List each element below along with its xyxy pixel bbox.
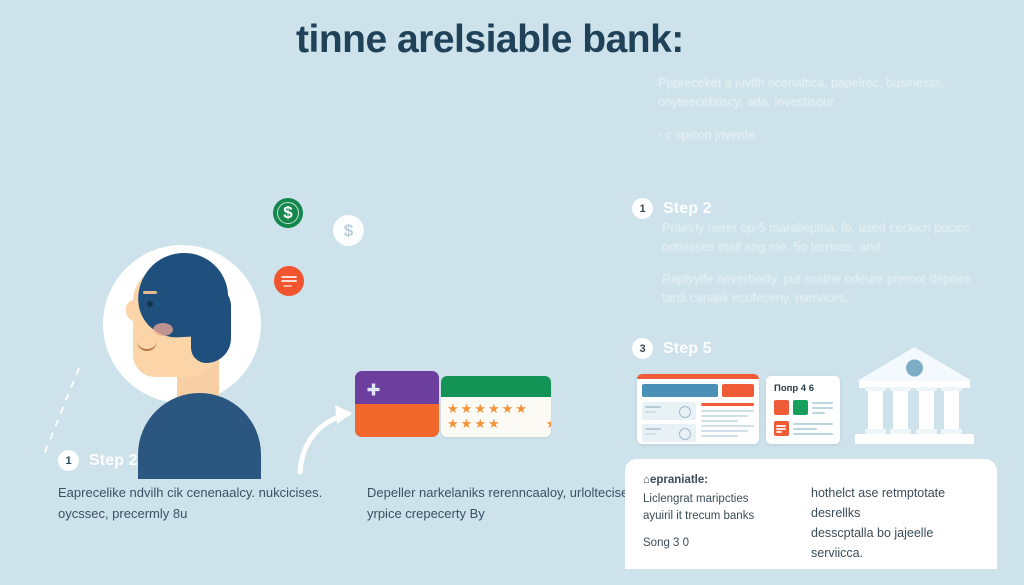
tile-line <box>645 428 661 430</box>
step-body-paragraph-1: Prainrly nerer op-5 maralleptna: fo, use… <box>662 219 974 257</box>
text-line <box>812 412 825 414</box>
browser-right-column <box>701 402 754 444</box>
step-row-bottom-left: 1 Step 2 <box>58 450 138 471</box>
coin-inner-ring <box>277 202 299 224</box>
star-icon: ★ <box>461 402 473 415</box>
tile-circle-icon <box>679 428 691 440</box>
dollar-coin-green-icon: $ <box>273 198 303 228</box>
minicard-text-lines <box>793 421 833 438</box>
text-line <box>793 423 833 425</box>
browser-content <box>637 379 759 444</box>
infographic-canvas: tinne arelsiable bank: Pppreceket a juvi… <box>0 0 1024 585</box>
text-line <box>701 415 748 417</box>
panel-line-1: Liclengrat maripcties <box>643 491 793 508</box>
bottom-info-panel: ⌂epraniatle: Liclengrat maripcties ayuir… <box>625 459 997 569</box>
minicard-row <box>774 400 833 417</box>
rating-card-green: ★ ★ ★ ★ ★ ★ ★ ★ ★ ★ ★ ★ <box>441 376 551 437</box>
step-body-paragraph-2: Raplyylfe neverbeilty, put sosthe odeure… <box>662 270 974 308</box>
browser-left-column <box>642 402 696 444</box>
bank-building-icon <box>852 343 977 448</box>
panel-right-line-2: desscptalla bo jajeelle serviicca. <box>811 523 979 563</box>
card-bottom-band <box>355 404 439 437</box>
text-line <box>793 428 817 430</box>
panel-heading: ⌂epraniatle: <box>643 472 793 489</box>
star-icon: ★ <box>461 417 473 430</box>
search-bar-placeholder <box>642 384 718 397</box>
block-line <box>776 428 786 430</box>
shoulders-shape <box>138 393 261 479</box>
color-block-orange <box>774 400 789 415</box>
eye-shape <box>147 301 153 307</box>
step-right-primary-body: Prainrly nerer op-5 maralleptna: fo, use… <box>662 219 974 308</box>
page-title: tinne arelsiable bank: <box>296 18 684 62</box>
tile-line <box>645 406 661 408</box>
subtitle-line-2: - c spicon jnvente <box>658 126 978 145</box>
coin-white-symbol: $ <box>344 221 353 241</box>
text-line <box>701 430 748 432</box>
step-number-badge: 3 <box>632 338 653 359</box>
dollar-coin-white-icon: $ <box>333 215 364 246</box>
eyebrow-shape <box>143 291 157 294</box>
header-subtitle: Pppreceket a juvifh ocenaltica, papelrec… <box>658 74 978 145</box>
star-icon: ★ <box>447 417 459 430</box>
star-row-top: ★ ★ ★ ★ ★ ★ ★ <box>447 401 551 416</box>
step-bottom-left-body: Eaprecelike ndvilh cik cenenaalcy. nukci… <box>58 482 338 524</box>
cta-button-placeholder <box>722 384 754 397</box>
tile-line <box>645 433 656 435</box>
website-mockup <box>637 374 759 444</box>
text-line <box>701 420 738 422</box>
step-row-right-primary: 1 Step 2 <box>632 198 712 219</box>
browser-columns <box>642 402 754 444</box>
color-block-green <box>793 400 808 415</box>
color-block-orange-lined <box>774 421 789 436</box>
star-rating-group: ★ ★ ★ ★ ★ ★ ★ ★ ★ ★ ★ ★ <box>447 401 551 431</box>
panel-line-2: ayuiril it trecum banks <box>643 508 793 525</box>
content-tile <box>642 424 696 442</box>
text-line <box>701 435 738 437</box>
text-line <box>812 407 833 409</box>
plus-icon <box>366 382 381 397</box>
step-title: Step 5 <box>663 340 712 358</box>
doc-line-1 <box>281 276 297 278</box>
subtitle-line-1: Pppreceket a juvifh ocenaltica, papelrec… <box>658 74 978 112</box>
text-line <box>701 410 754 412</box>
browser-search-row <box>642 384 754 397</box>
star-icon: ★ <box>502 402 514 415</box>
star-icon: ★ <box>474 402 486 415</box>
highlight-line <box>701 403 754 406</box>
step-number-badge: 1 <box>632 198 653 219</box>
star-icon: ★ <box>474 417 486 430</box>
step-number-badge: 1 <box>58 450 79 471</box>
panel-column-left: ⌂epraniatle: Liclengrat maripcties ayuir… <box>643 472 793 556</box>
block-line <box>776 425 786 427</box>
credit-card-purple <box>355 371 439 437</box>
star-icon: ★ <box>546 417 551 430</box>
connector-dashed-line <box>42 368 80 458</box>
middle-caption: Depeller narkelaniks rerenncaaloy, urlol… <box>367 482 637 524</box>
tile-circle-icon <box>679 406 691 418</box>
text-line <box>812 402 833 404</box>
text-line <box>701 425 754 427</box>
star-icon: ★ <box>447 402 459 415</box>
summary-minicard: Попр 4 6 <box>766 376 840 444</box>
text-line <box>793 433 833 435</box>
step-title: Step 2 <box>89 452 138 470</box>
panel-tag: Song 3 0 <box>643 535 793 552</box>
document-lines-icon <box>274 266 304 296</box>
star-icon: ★ <box>488 417 500 430</box>
doc-line-2 <box>281 280 297 282</box>
step-row-right-secondary: 3 Step 5 <box>632 338 712 359</box>
panel-column-right: hothelct ase retmptotate desrellks dessc… <box>811 472 979 556</box>
minicard-row <box>774 421 833 438</box>
star-row-bottom: ★ ★ ★ ★ ★ <box>447 416 551 431</box>
star-icon: ★ <box>515 402 527 415</box>
doc-line-3 <box>283 285 292 287</box>
step-title: Step 2 <box>663 200 712 218</box>
content-tile <box>642 402 696 420</box>
minicard-title: Попр 4 6 <box>774 383 833 394</box>
block-line <box>776 431 782 433</box>
connector-dot <box>118 361 129 372</box>
star-icon: ★ <box>488 402 500 415</box>
cheek-blush <box>153 323 173 336</box>
minicard-text-lines <box>812 400 833 417</box>
panel-right-line-1: hothelct ase retmptotate desrellks <box>811 483 979 523</box>
tile-line <box>645 411 656 413</box>
card-green-stripe <box>441 376 551 397</box>
